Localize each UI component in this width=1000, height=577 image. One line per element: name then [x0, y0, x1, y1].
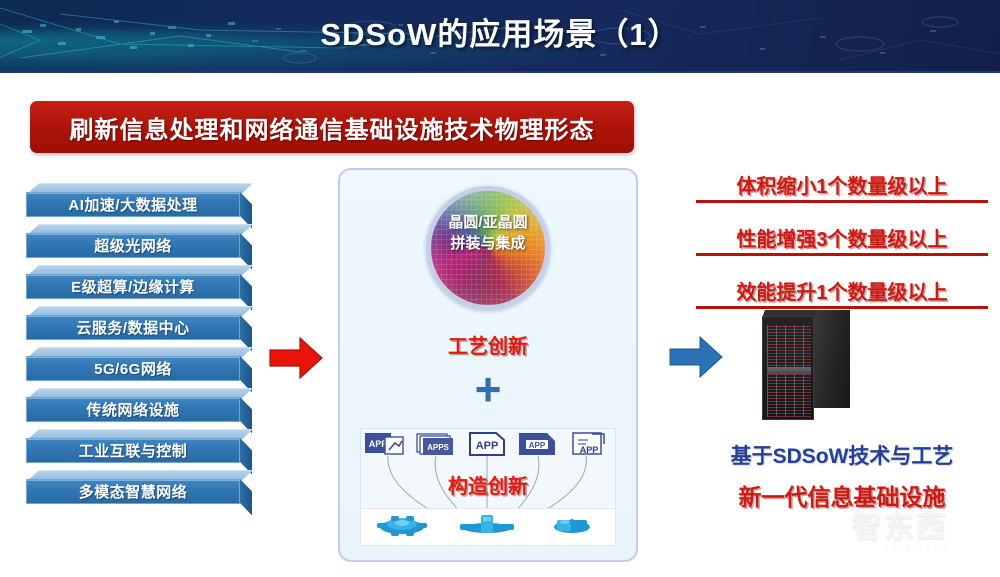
- slab-front-face: 传统网络设施: [26, 397, 240, 422]
- wafer-line-2: 拼装与集成: [340, 233, 636, 254]
- app-page-icon[interactable]: APP: [466, 431, 508, 457]
- slab-front-face: 工业互联与控制: [26, 438, 240, 463]
- slab-side-face: [240, 356, 252, 392]
- slab-front-face: 超级光网络: [26, 233, 240, 258]
- stack-layer-label: 超级光网络: [94, 235, 172, 256]
- stack-layer[interactable]: 云服务/数据中心: [26, 306, 240, 340]
- wafer-line-1: 晶圆/亚晶圆: [340, 212, 636, 233]
- stack-layer-label: E级超算/边缘计算: [71, 276, 195, 297]
- svg-text:APP: APP: [476, 440, 499, 452]
- caption-infrastructure: 新一代信息基础设施: [690, 478, 994, 512]
- chip-row: [360, 510, 614, 542]
- app-stack-icon[interactable]: APPS: [415, 431, 457, 457]
- red-arrow-icon: [268, 335, 324, 381]
- stack-layer[interactable]: E级超算/边缘计算: [26, 265, 240, 299]
- center-panel: 晶圆/亚晶圆 拼装与集成 工艺创新 + APP: [338, 168, 638, 562]
- stack-layer-label: 云服务/数据中心: [76, 317, 189, 338]
- slab-front-face: E级超算/边缘计算: [26, 274, 240, 299]
- plus-icon: +: [475, 366, 502, 412]
- stack-layer-label: 传统网络设施: [86, 399, 179, 420]
- infrastructure-stack: AI加速/大数据处理 超级光网络 E级超算/边缘计算 云服务/数据中心 5G/6…: [26, 183, 262, 513]
- header-divider: [0, 71, 1000, 73]
- watermark-domain: zhidx.com: [852, 544, 984, 554]
- slide: SDSoW的应用场景（1） 刷新信息处理和网络通信基础设施技术物理形态 AI加速…: [0, 0, 1000, 577]
- red-banner-label: 刷新信息处理和网络通信基础设施技术物理形态: [70, 110, 595, 145]
- slab-front-face: 云服务/数据中心: [26, 315, 240, 340]
- stack-layer[interactable]: 5G/6G网络: [26, 347, 240, 381]
- server-front-panel: [762, 316, 814, 420]
- stack-layer-label: 工业互联与控制: [79, 440, 188, 461]
- slab-front-face: 5G/6G网络: [26, 356, 240, 381]
- slab-side-face: [240, 397, 252, 433]
- metrics-list: 体积缩小1个数量级以上 性能增强3个数量级以上 效能提升1个数量级以上: [690, 170, 994, 329]
- chip-gear-icon: [371, 513, 433, 539]
- page-title: SDSoW的应用场景（1）: [0, 9, 1000, 54]
- watermark: 智东西 zhidx.com: [852, 512, 984, 564]
- app-edit-icon[interactable]: APP: [568, 431, 610, 457]
- chip-cross-icon: [456, 513, 518, 539]
- server-rack-icon: [762, 310, 850, 420]
- stack-layer-label: 多模态智慧网络: [79, 481, 188, 502]
- process-innovation-label: 工艺创新: [340, 330, 636, 359]
- server-drive-bay: [767, 367, 811, 374]
- blue-arrow-icon: [668, 334, 724, 380]
- caption-technology: 基于SDSoW技术与工艺: [690, 440, 994, 470]
- app-filled-icon[interactable]: APP: [517, 431, 559, 457]
- metric-item: 性能增强3个数量级以上: [690, 223, 994, 252]
- stack-layer[interactable]: 工业互联与控制: [26, 429, 240, 463]
- svg-text:APPS: APPS: [427, 443, 449, 452]
- slab-side-face: [240, 233, 252, 269]
- metric-item: 效能提升1个数量级以上: [690, 276, 994, 305]
- stack-layer[interactable]: 多模态智慧网络: [26, 470, 240, 504]
- svg-text:APP: APP: [529, 441, 546, 450]
- stack-layer[interactable]: AI加速/大数据处理: [26, 183, 240, 217]
- slide-header: SDSoW的应用场景（1）: [0, 0, 1000, 72]
- stack-layer[interactable]: 超级光网络: [26, 224, 240, 258]
- construction-innovation-label: 构造创新: [340, 470, 636, 499]
- slab-side-face: [240, 479, 252, 515]
- stack-layer[interactable]: 传统网络设施: [26, 388, 240, 422]
- slab-front-face: AI加速/大数据处理: [26, 192, 240, 217]
- slab-side-face: [240, 192, 252, 228]
- red-banner: 刷新信息处理和网络通信基础设施技术物理形态: [30, 101, 634, 153]
- metric-item: 体积缩小1个数量级以上: [690, 170, 994, 199]
- app-icon-row: APP APPS APP: [360, 429, 614, 459]
- slab-side-face: [240, 274, 252, 310]
- svg-text:APP: APP: [579, 445, 598, 455]
- watermark-logo-text: 智东西: [852, 512, 984, 544]
- chip-puzzle-icon: [541, 513, 603, 539]
- server-side-panel: [814, 310, 850, 408]
- app-doc-icon[interactable]: APP: [364, 431, 406, 457]
- slab-side-face: [240, 315, 252, 351]
- stack-layer-label: AI加速/大数据处理: [68, 194, 197, 215]
- slab-side-face: [240, 438, 252, 474]
- stack-layer-label: 5G/6G网络: [94, 358, 172, 379]
- wafer-text: 晶圆/亚晶圆 拼装与集成: [340, 212, 636, 254]
- slab-front-face: 多模态智慧网络: [26, 479, 240, 504]
